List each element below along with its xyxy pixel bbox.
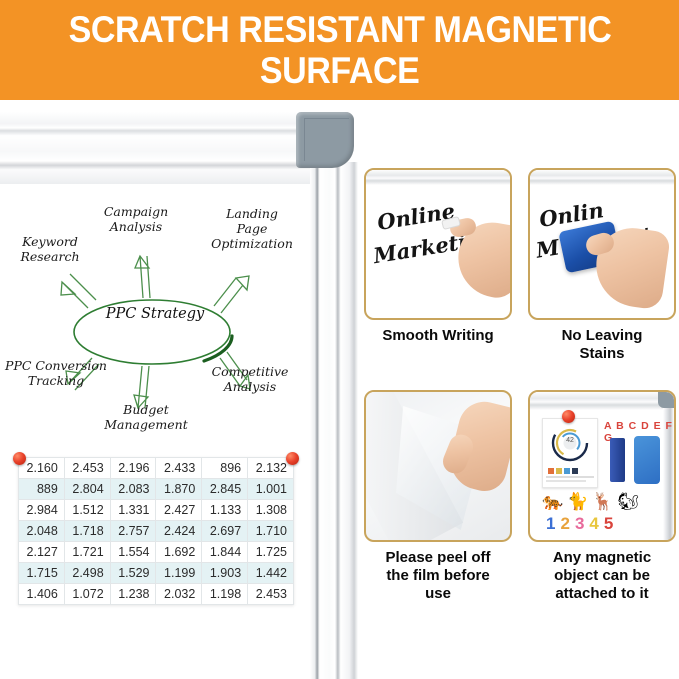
numeric-data-table-wrap: 2.1602.4532.1962.4338962.1328892.8042.08…: [18, 457, 294, 605]
table-cell: 1.442: [248, 563, 294, 584]
table-cell: 1.406: [19, 584, 65, 605]
table-cell: 2.804: [64, 479, 110, 500]
number-magnet: 1: [546, 514, 555, 534]
table-cell: 1.844: [202, 542, 248, 563]
table-cell: 2.845: [202, 479, 248, 500]
mindmap-center-label: PPC Strategy: [90, 306, 220, 322]
table-cell: 2.984: [19, 500, 65, 521]
table-row: 2.0481.7182.7572.4242.6971.710: [19, 521, 294, 542]
mindmap-node-landing-page-optimization: Landing Page Optimization: [196, 206, 308, 251]
feature-image-peel-film: [364, 390, 512, 542]
number-magnets: 12345: [546, 514, 613, 534]
table-cell: 2.427: [156, 500, 202, 521]
table-cell: 1.870: [156, 479, 202, 500]
feature-peel-film: Please peel off the film before use: [364, 390, 512, 603]
table-cell: 1.554: [110, 542, 156, 563]
table-cell: 1.903: [202, 563, 248, 584]
table-cell: 1.692: [156, 542, 202, 563]
mindmap-node-campaign-analysis: Campaign Analysis: [84, 204, 188, 234]
numeric-data-table: 2.1602.4532.1962.4338962.1328892.8042.08…: [18, 457, 294, 605]
table-cell: 1.308: [248, 500, 294, 521]
header-banner: SCRATCH RESISTANT MAGNETIC SURFACE: [0, 0, 679, 100]
table-cell: 1.072: [64, 584, 110, 605]
table-cell: 1.512: [64, 500, 110, 521]
board-strip-icon: [530, 392, 674, 410]
table-cell: 2.453: [248, 584, 294, 605]
table-cell: 1.199: [156, 563, 202, 584]
feature-no-stains: Onlin M , No Leaving Stains: [528, 168, 676, 363]
red-magnet-dot: [562, 410, 575, 423]
table-cell: 1.529: [110, 563, 156, 584]
table-row: 2.9841.5121.3312.4271.1331.308: [19, 500, 294, 521]
feature-caption-smooth-writing: Smooth Writing: [364, 327, 512, 345]
board-corner-icon: [658, 392, 674, 408]
table-cell: 2.697: [202, 521, 248, 542]
feature-caption-magnetic: Any magnetic object can be attached to i…: [528, 549, 676, 603]
deer-icon: 🦌: [592, 492, 613, 512]
feature-caption-no-stains: No Leaving Stains: [528, 327, 676, 363]
ppc-strategy-mindmap: PPC Strategy Keyword Research Campaign A…: [0, 186, 310, 446]
whiteboard-top-frame: [0, 112, 310, 184]
table-cell: 2.433: [156, 458, 202, 479]
table-body: 2.1602.4532.1962.4338962.1328892.8042.08…: [19, 458, 294, 605]
board-strip-icon: [530, 170, 674, 185]
magnet-dot-right: [286, 452, 299, 465]
table-cell: 2.032: [156, 584, 202, 605]
table-cell: 2.048: [19, 521, 65, 542]
feature-magnetic: 42 A B C D E F G 🐅 🐈 🦌: [528, 390, 676, 603]
table-row: 8892.8042.0831.8702.8451.001: [19, 479, 294, 500]
table-cell: 1.238: [110, 584, 156, 605]
mindmap-node-ppc-conversion-tracking: PPC Conversion Tracking: [0, 358, 116, 388]
table-cell: 1.721: [64, 542, 110, 563]
table-cell: 2.453: [64, 458, 110, 479]
mindmap-node-competitive-analysis: Competitive Analysis: [198, 364, 302, 394]
mindmap-node-budget-management: Budget Management: [88, 402, 204, 432]
number-magnet: 2: [560, 514, 569, 534]
table-cell: 896: [202, 458, 248, 479]
number-magnet: 4: [589, 514, 598, 534]
number-magnet: 5: [604, 514, 613, 534]
table-cell: 2.127: [19, 542, 65, 563]
feature-smooth-writing: Online Marketi Smooth Writing: [364, 168, 512, 345]
table-cell: 1.718: [64, 521, 110, 542]
banner-line-1: SCRATCH RESISTANT MAGNETIC: [68, 9, 611, 50]
poster-number: 42: [543, 437, 597, 444]
table-row: 2.1271.7211.5541.6921.8441.725: [19, 542, 294, 563]
table-cell: 1.710: [248, 521, 294, 542]
animal-magnets: 🐅 🐈 🦌 🐿: [542, 492, 639, 512]
table-cell: 2.498: [64, 563, 110, 584]
cat-icon: 🐈: [567, 492, 588, 512]
scribble-line-2: M: [534, 234, 561, 262]
whiteboard-photo: PPC Strategy Keyword Research Campaign A…: [0, 100, 362, 679]
magnet-dot-left: [13, 452, 26, 465]
eraser-magnet: [634, 436, 660, 484]
poster-legend: [548, 468, 578, 474]
table-cell: 2.196: [110, 458, 156, 479]
table-cell: 1.725: [248, 542, 294, 563]
number-magnet: 3: [575, 514, 584, 534]
table-cell: 1.133: [202, 500, 248, 521]
marker-magnet: [610, 438, 625, 482]
table-cell: 889: [19, 479, 65, 500]
whiteboard-corner-piece: [296, 112, 354, 168]
poster-magnet: 42: [542, 418, 598, 488]
table-cell: 1.715: [19, 563, 65, 584]
banner-line-2: SURFACE: [260, 50, 419, 91]
feature-grid: Online Marketi Smooth Writing Onlin M , …: [364, 168, 679, 679]
table-row: 1.7152.4981.5291.1991.9031.442: [19, 563, 294, 584]
table-cell: 2.757: [110, 521, 156, 542]
mindmap-node-keyword-research: Keyword Research: [2, 234, 98, 264]
board-strip-icon: [366, 170, 510, 185]
table-cell: 1.198: [202, 584, 248, 605]
feature-image-no-stains: Onlin M ,: [528, 168, 676, 320]
feature-image-magnetic: 42 A B C D E F G 🐅 🐈 🦌: [528, 390, 676, 542]
whiteboard-right-frame: [310, 162, 358, 679]
table-row: 2.1602.4532.1962.4338962.132: [19, 458, 294, 479]
feature-caption-peel-film: Please peel off the film before use: [364, 549, 512, 603]
tiger-icon: 🐅: [542, 492, 563, 512]
table-cell: 1.001: [248, 479, 294, 500]
table-row: 1.4061.0721.2382.0321.1982.453: [19, 584, 294, 605]
squirrel-icon: 🐿: [618, 492, 640, 512]
table-cell: 2.424: [156, 521, 202, 542]
feature-image-smooth-writing: Online Marketi: [364, 168, 512, 320]
table-cell: 1.331: [110, 500, 156, 521]
table-cell: 2.083: [110, 479, 156, 500]
